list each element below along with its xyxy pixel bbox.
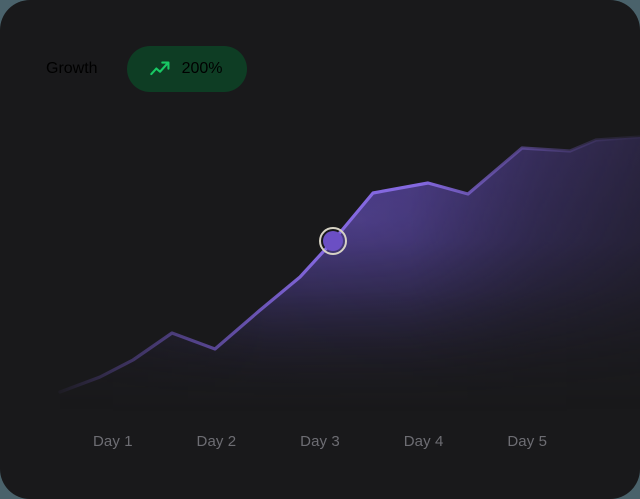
x-tick-day-2: Day 2 [165,434,269,449]
x-tick-day-3: Day 3 [268,434,372,449]
badge-value: 200% [182,60,223,78]
growth-badge[interactable]: 200% [127,46,247,92]
marker-dot [323,231,343,251]
growth-card: Growth 200% Day 1 Day 2 Day 3 Day 4 Day … [0,0,640,499]
x-tick-day-1: Day 1 [61,434,165,449]
page-title: Growth [46,60,98,78]
chart-area-glow [60,137,640,412]
trending-up-icon [149,58,171,80]
x-tick-day-5: Day 5 [475,434,579,449]
card-header: Growth 200% [46,46,247,92]
highlighted-point-marker[interactable] [320,228,346,254]
x-axis-labels: Day 1 Day 2 Day 3 Day 4 Day 5 [61,434,579,449]
x-tick-day-4: Day 4 [372,434,476,449]
